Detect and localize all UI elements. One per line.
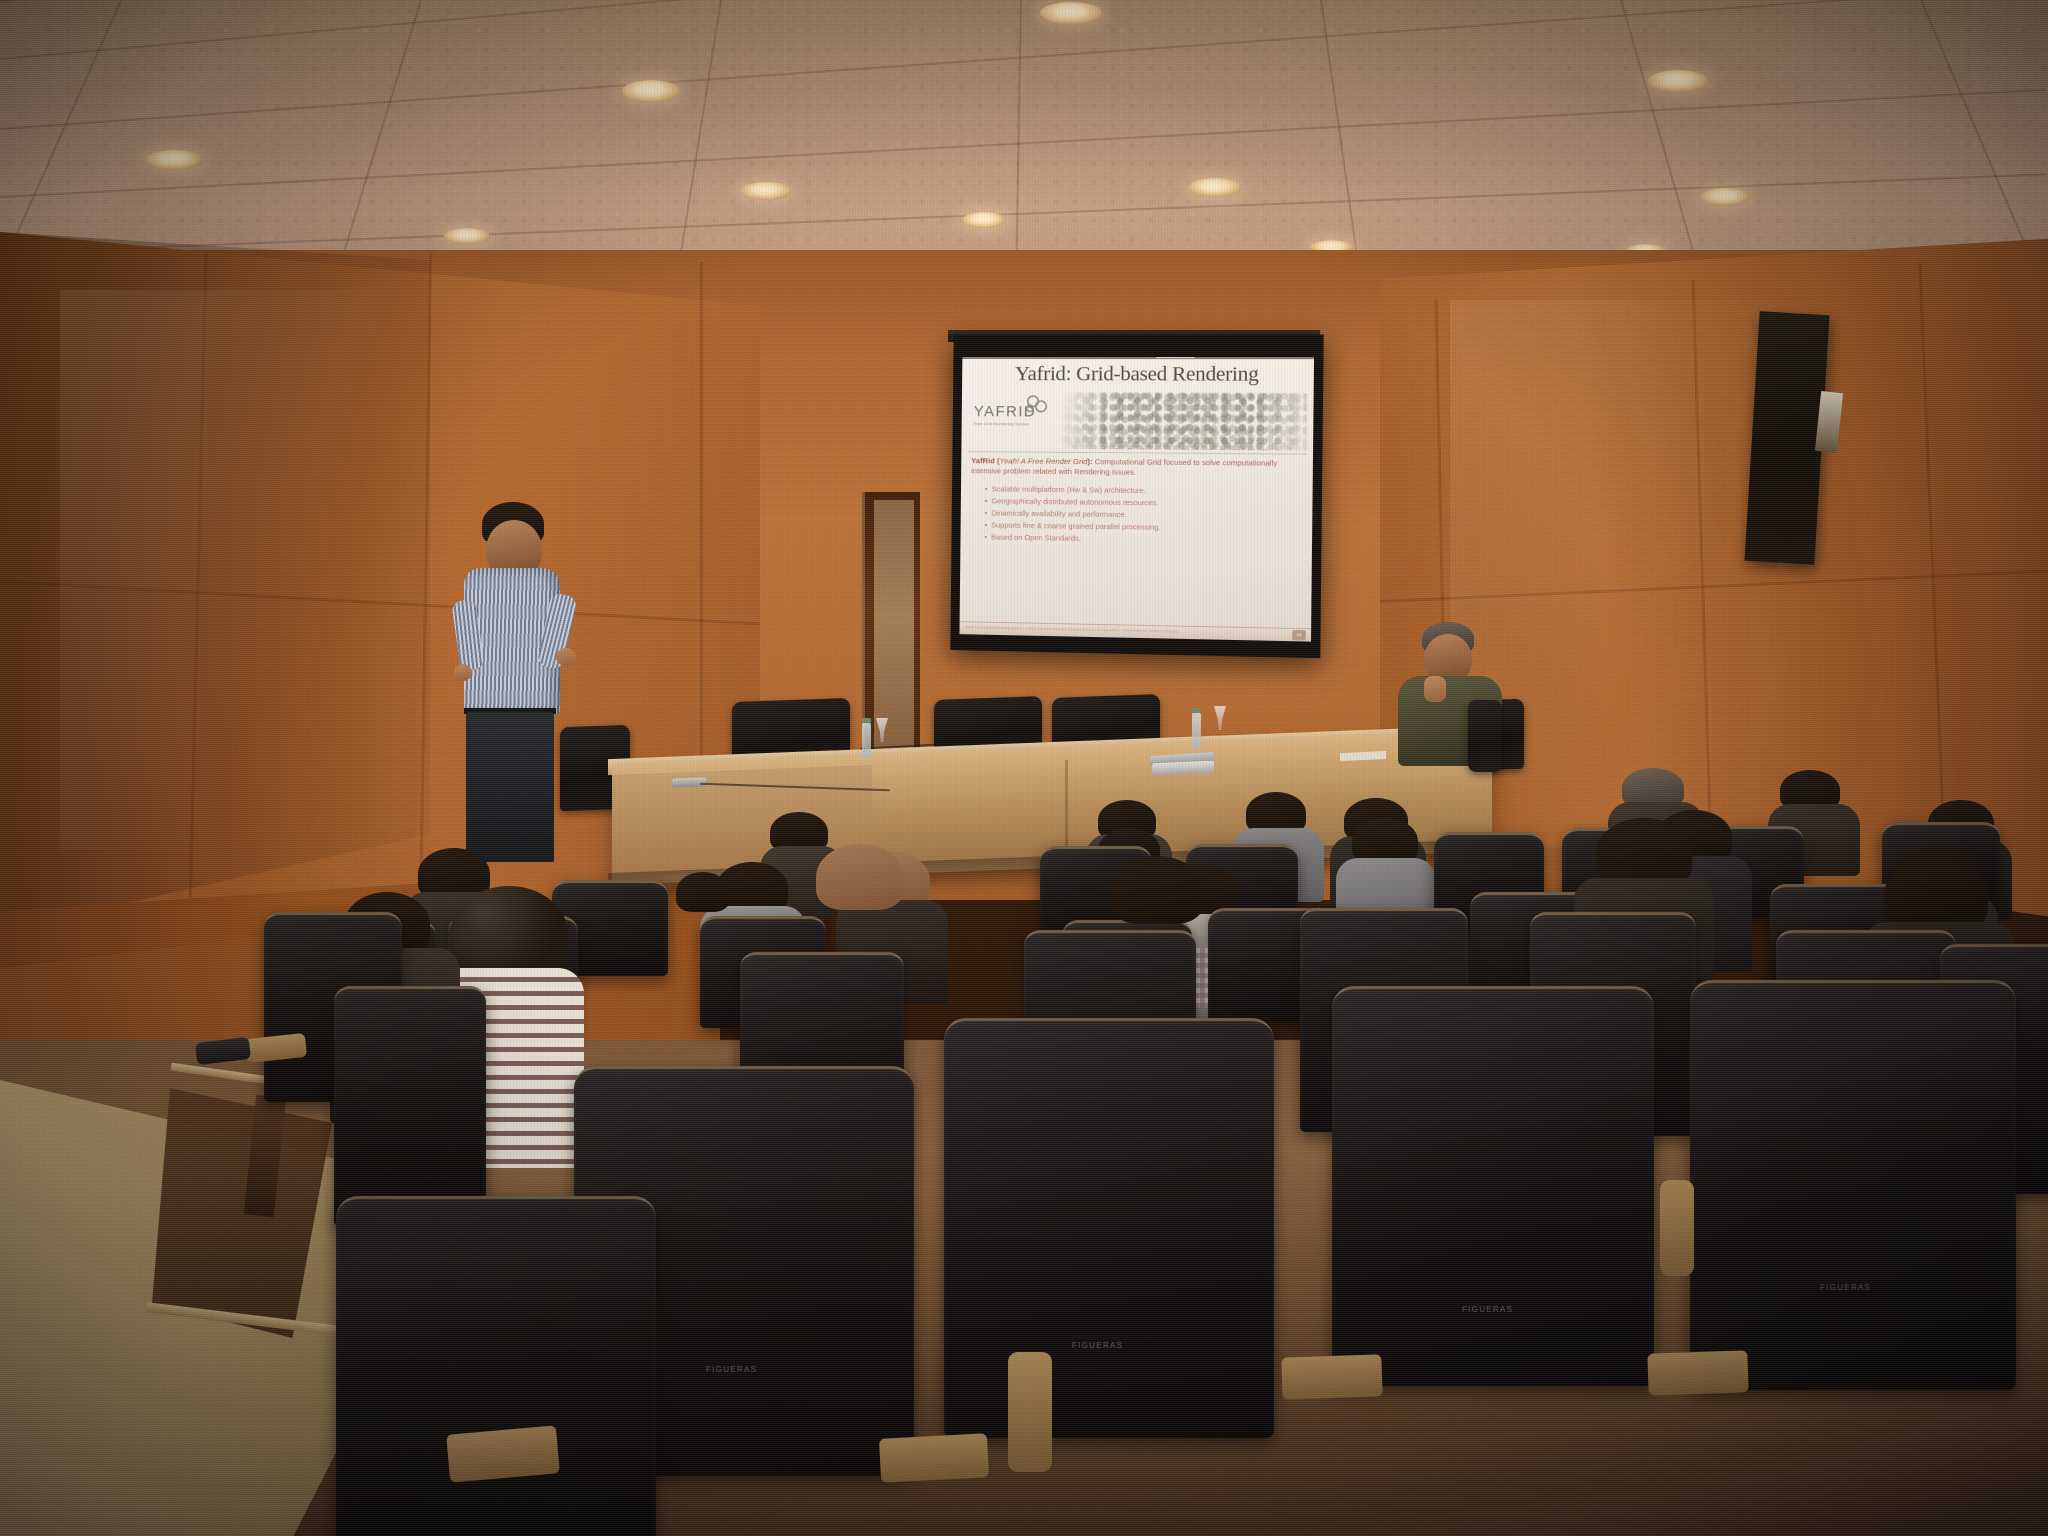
ceiling-downlight (962, 212, 1006, 228)
lecture-hall-photo: Introduction Objectives ClusterGrid Opti… (0, 0, 2048, 1536)
slide-page-number: 10 (1292, 630, 1306, 641)
chair-armrest[interactable] (1660, 1180, 1694, 1276)
bottle-cap (1192, 708, 1201, 713)
slide-footer: Yafrid: Grid-based Rendering System · Ca… (959, 621, 1311, 641)
audience-hair (1884, 858, 1988, 932)
auditorium-chair-foreground[interactable]: FIGUERAS (1690, 980, 2016, 1390)
chair-brand-label: FIGUERAS (706, 1365, 757, 1374)
water-bottle[interactable] (1192, 712, 1201, 748)
chair-brand-label: FIGUERAS (1072, 1341, 1123, 1350)
chair-armrest[interactable] (1647, 1350, 1748, 1395)
audience-hair (816, 844, 904, 910)
presenter-hand (454, 664, 472, 681)
presenter-hand-gesture (556, 648, 576, 666)
ceiling-downlight (1700, 188, 1750, 206)
chair-armrest[interactable] (1008, 1352, 1052, 1472)
slide-tab-results: Results (1241, 357, 1266, 358)
chair-armrest[interactable] (879, 1433, 989, 1483)
chair-armrest[interactable] (446, 1425, 560, 1482)
water-bottle[interactable] (862, 722, 871, 758)
auditorium-chair-foreground[interactable]: FIGUERAS (1332, 986, 1654, 1386)
chair-armrest[interactable] (1281, 1354, 1382, 1399)
slide-banner: YAFRID Free Grid Rendering System (969, 392, 1307, 450)
slide-divider (967, 451, 1306, 455)
slide-tab-objectives: Objectives (1120, 357, 1152, 358)
slide-footer-text: Yafrid: Grid-based Rendering System · Ca… (965, 625, 1179, 633)
ceiling-downlight (622, 80, 680, 102)
projected-slide: Introduction Objectives ClusterGrid Opti… (959, 357, 1314, 642)
ceiling-downlight (740, 182, 792, 200)
auditorium-chair-foreground[interactable]: FIGUERAS (944, 1018, 1274, 1438)
chair-brand-label: FIGUERAS (1820, 1283, 1871, 1292)
bottle-cap (862, 718, 871, 723)
slide-tab-introduction: Introduction (1080, 357, 1114, 358)
ceiling-downlight (1188, 178, 1242, 197)
presenter (452, 502, 592, 862)
slide-tab-future-work: Future Work (1271, 357, 1308, 358)
ceiling-downlight (1648, 70, 1708, 92)
audience-hair (1110, 856, 1204, 924)
logo-rings-icon (1024, 394, 1050, 414)
wall-panel-seam (700, 262, 703, 802)
slide-lead-bold: YafRid ( (971, 456, 999, 465)
slide-section-tabs: Introduction Objectives ClusterGrid Opti… (962, 357, 1314, 359)
audience-hair (676, 872, 730, 912)
slide-bullet-list: Scalable multiplatform (Hw & Sw) archite… (970, 483, 1304, 548)
slide-tab-optimization: Optimization (1199, 357, 1236, 358)
auditorium-chair[interactable] (334, 986, 486, 1226)
hexagon-texture (1062, 392, 1308, 450)
left-wall-shadow (0, 232, 430, 932)
ceiling-downlight (146, 150, 202, 170)
projection-screen: Introduction Objectives ClusterGrid Opti… (950, 335, 1323, 659)
slide-lead-italic: Yeah! A Free Render Grid (999, 456, 1087, 466)
chair-brand-label: FIGUERAS (1462, 1305, 1513, 1314)
slide-tab-clustergrid: ClusterGrid (1156, 357, 1194, 358)
slide-body: YafRid (Yeah! A Free Render Grid): Compu… (970, 456, 1304, 548)
panelist-hand-on-chin (1424, 676, 1446, 702)
yafrid-tagline: Free Grid Rendering System (974, 421, 1036, 426)
panelist-chair[interactable] (1468, 700, 1502, 772)
slide-title: Yafrid: Grid-based Rendering (962, 363, 1314, 387)
ceiling-downlight (444, 228, 490, 244)
presenter-trousers (466, 712, 554, 862)
ceiling-downlight (1040, 2, 1102, 24)
slide-lead-paragraph: YafRid (Yeah! A Free Render Grid): Compu… (971, 456, 1304, 479)
auditorium-chair-foreground[interactable] (336, 1196, 656, 1536)
